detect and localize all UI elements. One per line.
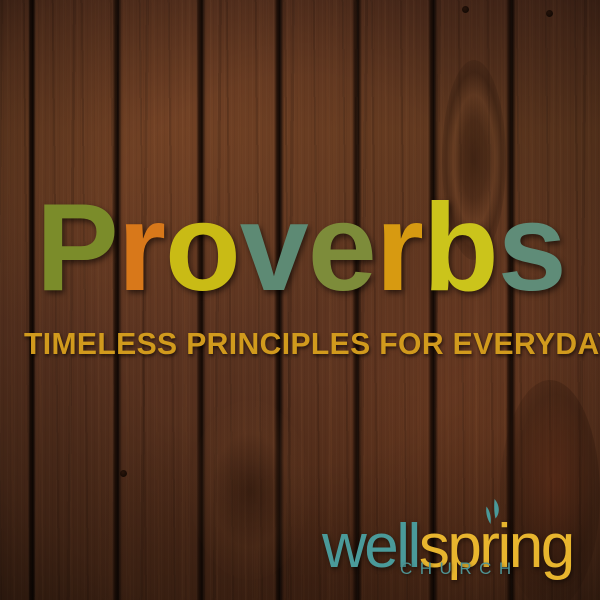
title-letter-p: P	[36, 186, 118, 310]
sprout-leaf-icon	[477, 498, 503, 528]
title-letter-o: o	[165, 186, 240, 310]
sermon-series-graphic: Proverbs TIMELESS PRINCIPLES FOR EVERYDA…	[0, 0, 600, 600]
logo-tagline: CHURCH	[400, 560, 519, 577]
title-letter-e: e	[308, 186, 376, 310]
title-letter-r1: r	[118, 186, 165, 310]
wellspring-church-logo: wellspring CHURCH	[322, 498, 574, 590]
title-letter-b: b	[423, 186, 498, 310]
title-letter-r2: r	[376, 186, 423, 310]
series-title: Proverbs	[36, 186, 566, 310]
title-letter-v: v	[240, 186, 308, 310]
series-subtitle: TIMELESS PRINCIPLES FOR EVERYDAY LIFE	[24, 328, 559, 359]
title-letter-s: s	[498, 186, 566, 310]
